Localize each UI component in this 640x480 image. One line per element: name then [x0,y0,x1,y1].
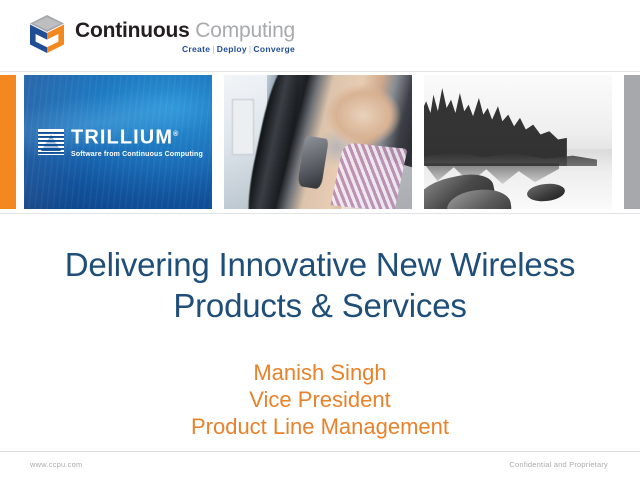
slide-subtitle: Manish Singh Vice President Product Line… [0,359,640,440]
trillium-tagline: Software from Continuous Computing [71,150,203,159]
logo-wordmark-bold: Continuous [75,19,190,42]
trillium-brand-name: TRILLIUM® [71,125,203,148]
hero-image-band-inner: TRILLIUM® Software from Continuous Compu… [0,75,640,209]
presentation-slide: Continuous Computing Create|Deploy|Conve… [0,0,640,480]
hero-image-band: TRILLIUM® Software from Continuous Compu… [0,71,640,214]
logo-text-block: Continuous Computing Create|Deploy|Conve… [75,13,295,54]
photo-man-striped-tie [330,142,407,209]
trillium-brand-name-text: TRILLIUM [71,127,173,149]
slide-title-line-2: Products & Services [0,285,640,326]
presenter-department: Product Line Management [0,413,640,440]
continuous-computing-cube-logo-icon [28,14,66,54]
logo-tagline: Create|Deploy|Converge [75,44,295,54]
company-logo: Continuous Computing Create|Deploy|Conve… [28,13,295,54]
footer-website[interactable]: www.ccpu.com [30,460,82,469]
logo-tagline-deploy: Deploy [217,44,247,54]
photo-businessman-on-mobile-phone [224,75,412,209]
footer-confidentiality-notice: Confidential and Proprietary [509,460,608,469]
slide-footer: www.ccpu.com Confidential and Proprietar… [0,451,640,480]
presenter-name: Manish Singh [0,359,640,386]
photo-black-and-white-lake-shoreline [424,75,612,209]
logo-wordmark-light: Computing [190,19,295,42]
photo-man-background-building [232,99,255,155]
slide-title-line-1: Delivering Innovative New Wireless [0,244,640,285]
slide-title: Delivering Innovative New Wireless Produ… [0,244,640,326]
presenter-title: Vice President [0,386,640,413]
logo-tagline-converge: Converge [253,44,295,54]
orange-accent-block [0,75,16,209]
gray-accent-block [624,75,640,209]
logo-tagline-create: Create [182,44,210,54]
trillium-brand-panel: TRILLIUM® Software from Continuous Compu… [24,75,212,209]
trillium-trademark-symbol: ® [173,131,178,138]
logo-wordmark: Continuous Computing [75,20,295,41]
slide-header: Continuous Computing Create|Deploy|Conve… [0,0,640,68]
trillium-striped-pyramid-icon [38,129,64,155]
trillium-wordmark-block: TRILLIUM® Software from Continuous Compu… [71,125,203,159]
trillium-logo-lockup: TRILLIUM® Software from Continuous Compu… [38,125,203,159]
